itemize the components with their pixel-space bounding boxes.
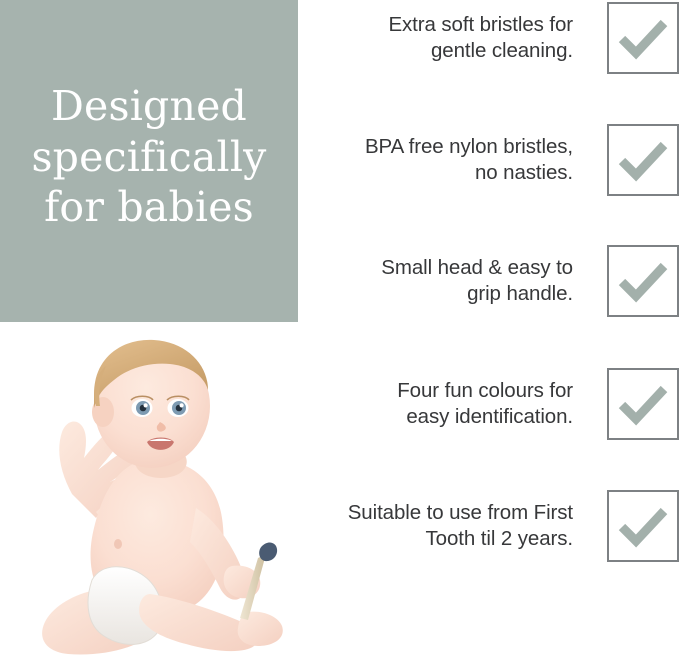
feature-row: BPA free nylon bristles, no nasties. xyxy=(300,124,679,196)
feature-checkbox[interactable] xyxy=(607,124,679,196)
feature-text: BPA free nylon bristles, no nasties. xyxy=(365,134,607,186)
check-icon xyxy=(609,370,677,438)
feature-list: Extra soft bristles for gentle cleaning.… xyxy=(300,0,679,665)
feature-checkbox[interactable] xyxy=(607,368,679,440)
feature-text: Extra soft bristles for gentle cleaning. xyxy=(388,12,607,64)
baby-navel xyxy=(114,539,122,549)
product-feature-infographic: Designed specifically for babies xyxy=(0,0,679,665)
feature-checkbox[interactable] xyxy=(607,245,679,317)
feature-checkbox[interactable] xyxy=(607,2,679,74)
check-icon xyxy=(609,4,677,72)
check-icon xyxy=(609,247,677,315)
check-icon xyxy=(609,492,677,560)
baby-photo xyxy=(0,322,320,665)
feature-text: Small head & easy to grip handle. xyxy=(381,255,607,307)
feature-row: Small head & easy to grip handle. xyxy=(300,245,679,317)
feature-row: Suitable to use from First Tooth til 2 y… xyxy=(300,490,679,562)
feature-text: Suitable to use from First Tooth til 2 y… xyxy=(348,500,607,552)
feature-row: Four fun colours for easy identification… xyxy=(300,368,679,440)
hero-title: Designed specifically for babies xyxy=(31,81,266,232)
feature-row: Extra soft bristles for gentle cleaning. xyxy=(300,2,679,74)
check-icon xyxy=(609,126,677,194)
feature-checkbox[interactable] xyxy=(607,490,679,562)
hero-panel: Designed specifically for babies xyxy=(0,0,298,322)
feature-text: Four fun colours for easy identification… xyxy=(397,378,607,430)
baby-photo-illustration xyxy=(0,322,320,665)
